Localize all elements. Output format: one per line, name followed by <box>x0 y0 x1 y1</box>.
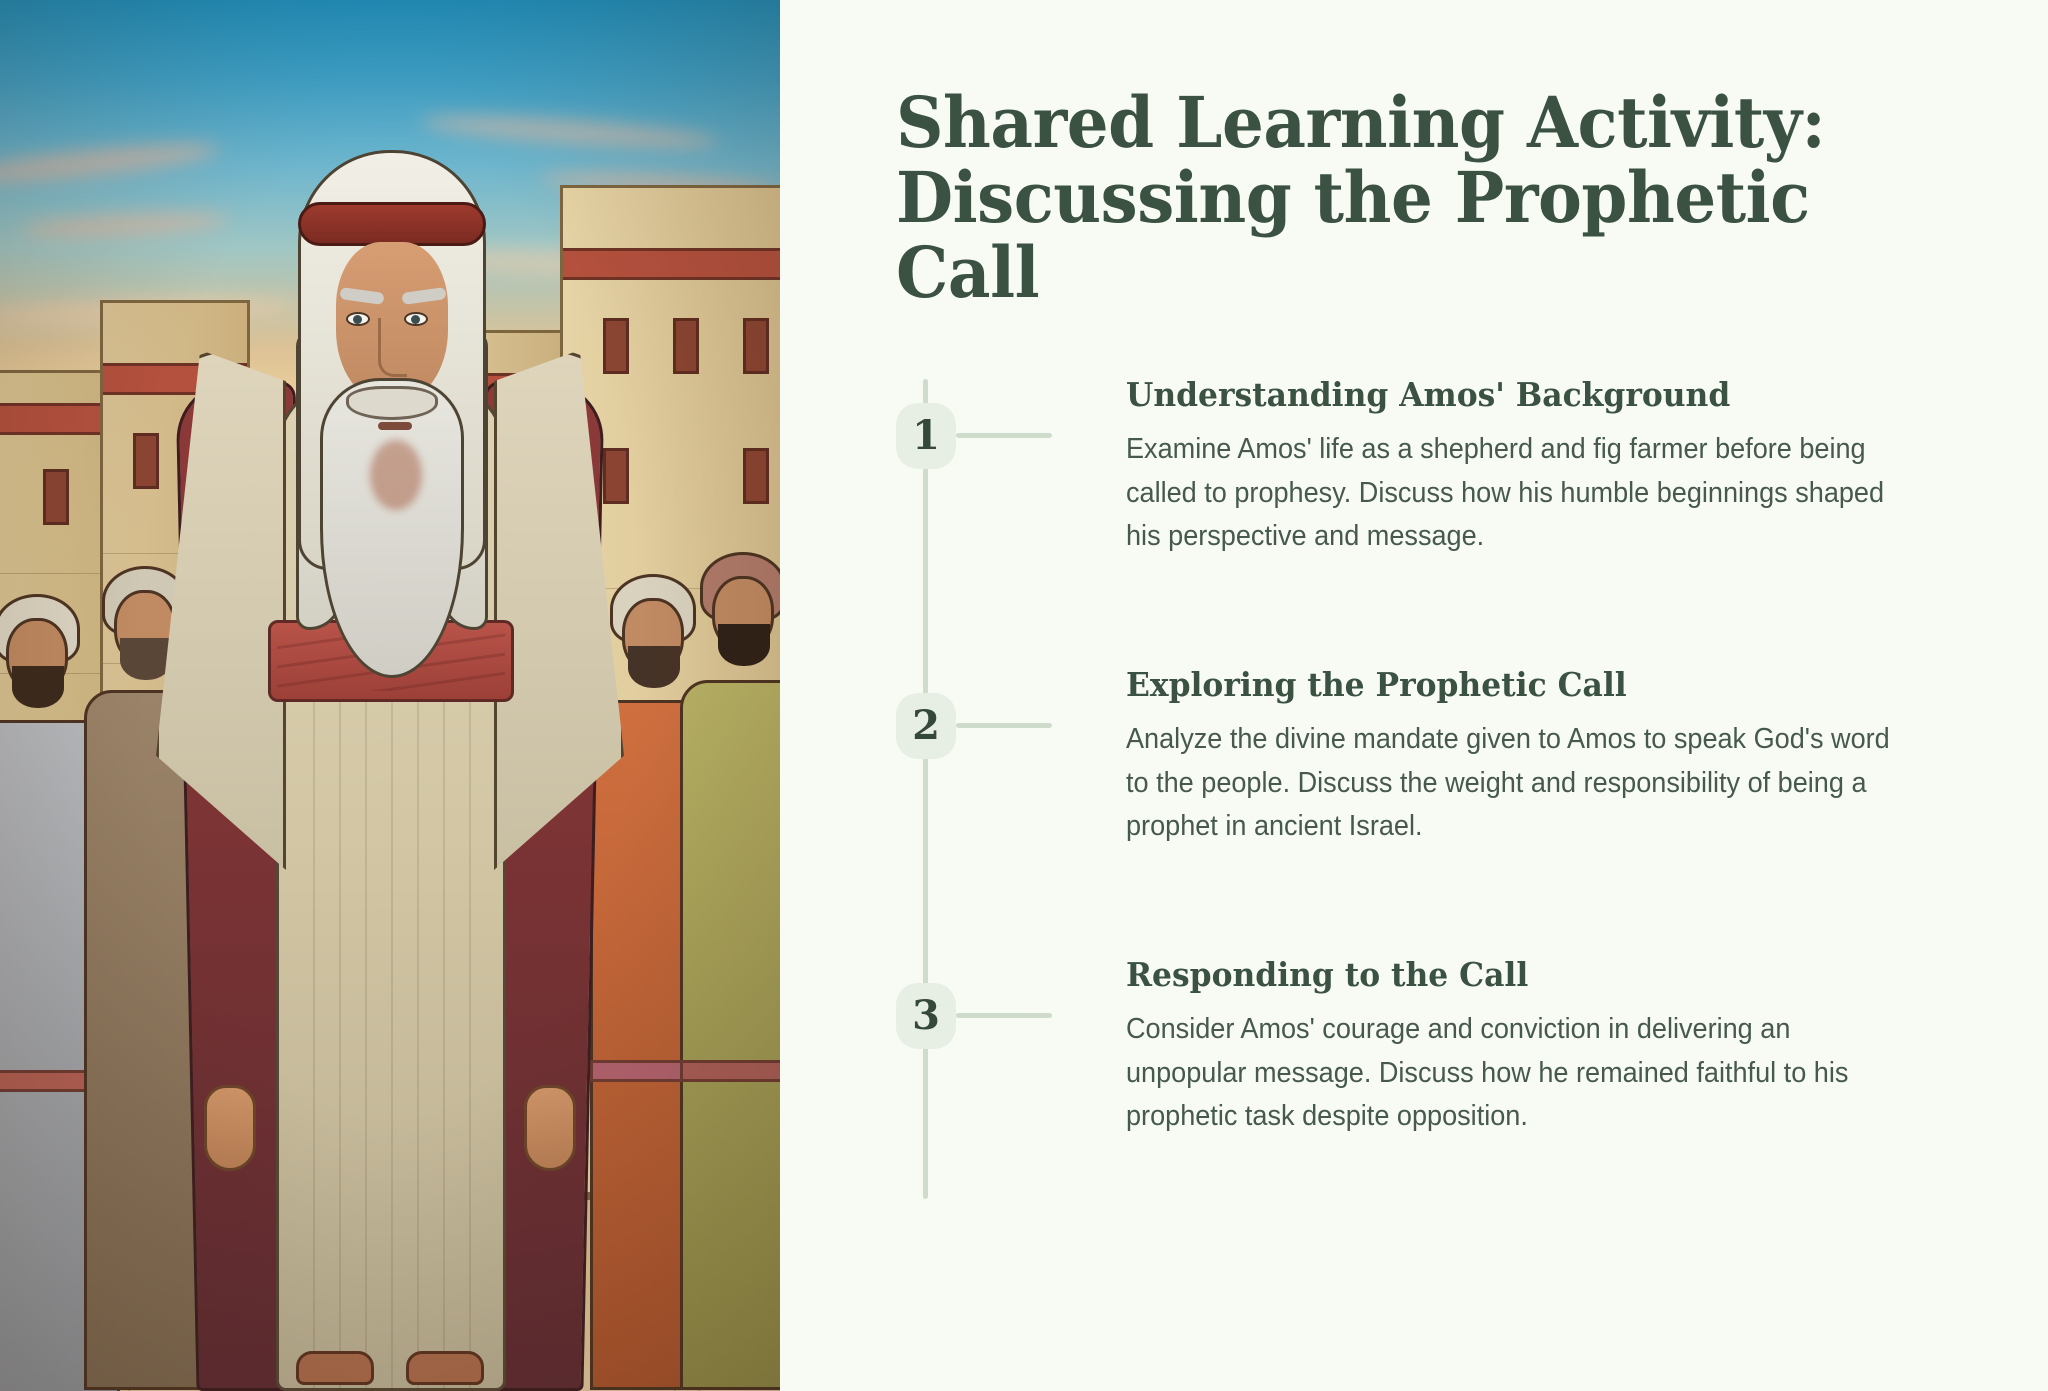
slide-root: Shared Learning Activity: Discussing the… <box>0 0 2048 1391</box>
pupil-left <box>353 315 362 324</box>
step-text-block: Responding to the Call Consider Amos' co… <box>1052 955 1940 1139</box>
mouth <box>378 422 412 430</box>
step-heading: Understanding Amos' Background <box>1126 375 1899 415</box>
step-connector-line <box>956 1013 1052 1018</box>
window <box>743 318 769 374</box>
timeline-step[interactable]: 2 Exploring the Prophetic Call Analyze t… <box>896 665 1940 955</box>
crowd-belt <box>680 1060 780 1082</box>
mustache <box>346 386 438 420</box>
pupil-right <box>411 315 420 324</box>
prophet-illustration <box>0 0 780 1391</box>
beard-highlight <box>370 440 422 510</box>
crowd-beard <box>120 638 172 680</box>
hand-right <box>524 1085 576 1171</box>
step-heading: Exploring the Prophetic Call <box>1126 665 1899 705</box>
window <box>603 448 629 504</box>
step-text-block: Understanding Amos' Background Examine A… <box>1052 375 1940 559</box>
steps-timeline: 1 Understanding Amos' Background Examine… <box>896 375 1940 1205</box>
nose <box>378 318 407 377</box>
window <box>43 469 69 525</box>
window <box>673 318 699 374</box>
crowd-beard <box>628 646 680 688</box>
page-title: Shared Learning Activity: Discussing the… <box>896 86 1874 311</box>
crowd-robe <box>680 680 780 1390</box>
window <box>133 433 159 489</box>
timeline-step[interactable]: 1 Understanding Amos' Background Examine… <box>896 375 1940 665</box>
red-headband <box>298 202 486 246</box>
step-body: Analyze the divine mandate given to Amos… <box>1126 718 1899 848</box>
timeline-step[interactable]: 3 Responding to the Call Consider Amos' … <box>896 955 1940 1205</box>
window <box>603 318 629 374</box>
step-connector-line <box>956 723 1052 728</box>
step-connector-line <box>956 433 1052 438</box>
step-text-block: Exploring the Prophetic Call Analyze the… <box>1052 665 1940 849</box>
step-body: Examine Amos' life as a shepherd and fig… <box>1126 428 1899 558</box>
crowd-beard <box>718 624 770 666</box>
hand-left <box>204 1085 256 1171</box>
step-number-badge: 3 <box>896 983 956 1049</box>
step-body: Consider Amos' courage and conviction in… <box>1126 1008 1899 1138</box>
content-panel: Shared Learning Activity: Discussing the… <box>780 0 2048 1391</box>
window <box>743 448 769 504</box>
step-number-badge: 2 <box>896 693 956 759</box>
sandal-left <box>296 1351 374 1385</box>
step-heading: Responding to the Call <box>1126 955 1899 995</box>
crowd-beard <box>12 666 64 708</box>
step-number-badge: 1 <box>896 403 956 469</box>
sandal-right <box>406 1351 484 1385</box>
prophet-amos-figure <box>180 150 600 1391</box>
